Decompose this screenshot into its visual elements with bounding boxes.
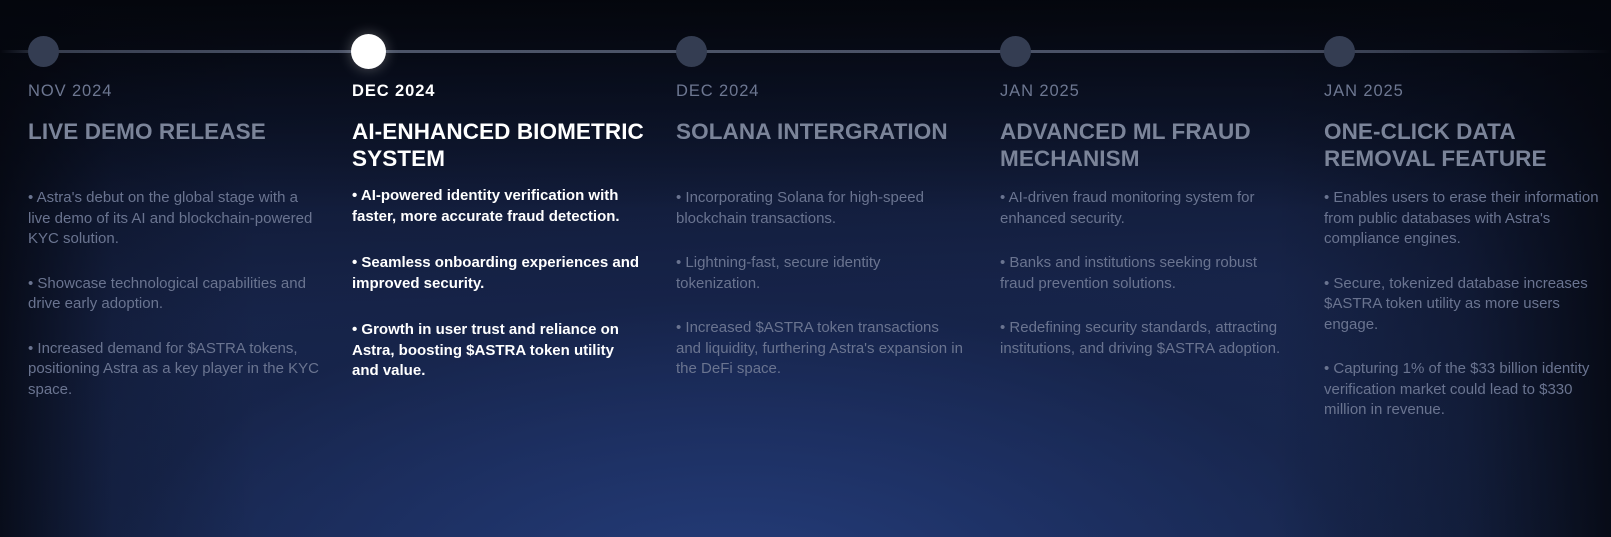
milestone-title: SOLANA INTERGRATION <box>676 118 968 145</box>
milestone-bullet-list: • Astra's debut on the global stage with… <box>28 188 320 400</box>
milestone-column[interactable]: DEC 2024AI-ENHANCED BIOMETRIC SYSTEM• AI… <box>324 0 648 537</box>
milestone-bullet: • Showcase technological capabilities an… <box>28 274 320 315</box>
milestone-date: DEC 2024 <box>676 82 759 101</box>
milestone-date: JAN 2025 <box>1324 82 1404 101</box>
milestone-bullet: • Increased demand for $ASTRA tokens, po… <box>28 339 320 401</box>
milestone-bullet: • Lightning-fast, secure identity tokeni… <box>676 253 968 294</box>
milestone-bullet-list: • Enables users to erase their informati… <box>1324 188 1611 421</box>
milestone-bullet: • Secure, tokenized database increases $… <box>1324 274 1611 336</box>
milestone-bullet: • Enables users to erase their informati… <box>1324 188 1611 250</box>
milestone-column[interactable]: NOV 2024LIVE DEMO RELEASE• Astra's debut… <box>0 0 324 537</box>
milestone-column[interactable]: DEC 2024SOLANA INTERGRATION• Incorporati… <box>648 0 972 537</box>
milestone-title: LIVE DEMO RELEASE <box>28 118 320 145</box>
milestone-dot-active-icon[interactable] <box>351 34 386 69</box>
milestone-title: ADVANCED ML FRAUD MECHANISM <box>1000 118 1292 172</box>
milestone-date: DEC 2024 <box>352 82 435 101</box>
milestone-bullet: • Redefining security standards, attract… <box>1000 318 1292 359</box>
milestone-bullet: • Banks and institutions seeking robust … <box>1000 253 1292 294</box>
milestone-bullet: • Increased $ASTRA token transactions an… <box>676 318 968 380</box>
milestone-bullet-list: • AI-driven fraud monitoring system for … <box>1000 188 1292 359</box>
milestone-column[interactable]: JAN 2025ONE-CLICK DATA REMOVAL FEATURE• … <box>1296 0 1611 537</box>
roadmap-timeline: NOV 2024LIVE DEMO RELEASE• Astra's debut… <box>0 0 1611 537</box>
milestone-bullet-list: • AI-powered identity verification with … <box>352 186 644 408</box>
milestone-dot-icon[interactable] <box>28 36 59 67</box>
milestone-date: JAN 2025 <box>1000 82 1080 101</box>
milestone-bullet: • Incorporating Solana for high-speed bl… <box>676 188 968 229</box>
milestone-bullet-list: • Incorporating Solana for high-speed bl… <box>676 188 968 380</box>
milestone-bullet: • AI-powered identity verification with … <box>352 186 644 227</box>
milestone-bullet: • Growth in user trust and reliance on A… <box>352 320 644 382</box>
milestone-bullet: • Seamless onboarding experiences and im… <box>352 253 644 294</box>
milestone-bullet: • Capturing 1% of the $33 billion identi… <box>1324 359 1611 421</box>
milestone-dot-icon[interactable] <box>1000 36 1031 67</box>
milestone-title: AI-ENHANCED BIOMETRIC SYSTEM <box>352 118 644 172</box>
milestone-track[interactable]: NOV 2024LIVE DEMO RELEASE• Astra's debut… <box>0 0 1611 537</box>
milestone-dot-icon[interactable] <box>1324 36 1355 67</box>
milestone-column[interactable]: JAN 2025ADVANCED ML FRAUD MECHANISM• AI-… <box>972 0 1296 537</box>
milestone-title: ONE-CLICK DATA REMOVAL FEATURE <box>1324 118 1611 172</box>
milestone-date: NOV 2024 <box>28 82 112 101</box>
milestone-dot-icon[interactable] <box>676 36 707 67</box>
milestone-bullet: • Astra's debut on the global stage with… <box>28 188 320 250</box>
milestone-bullet: • AI-driven fraud monitoring system for … <box>1000 188 1292 229</box>
